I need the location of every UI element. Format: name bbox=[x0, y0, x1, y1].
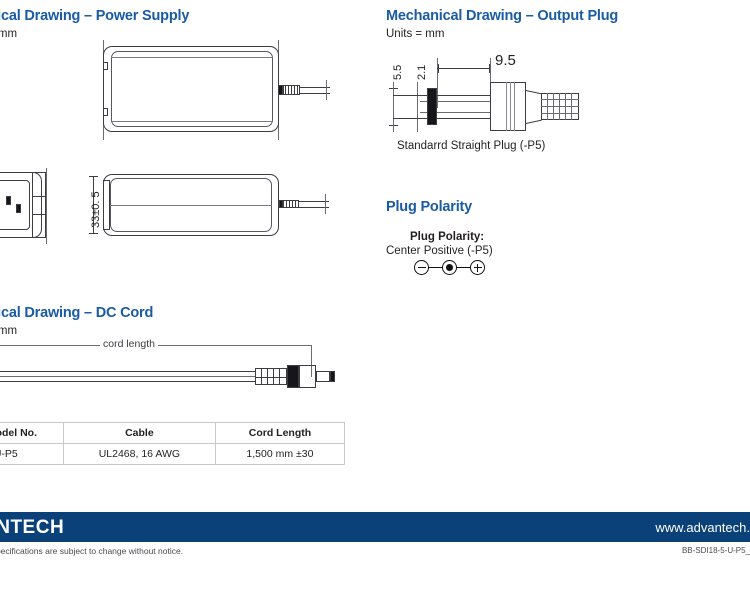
units-dc-cord: = mm bbox=[0, 325, 17, 337]
plug-polarity-value: Center Positive (-P5) bbox=[386, 245, 493, 257]
table-header-row: Model No. Cable Cord Length bbox=[0, 423, 345, 444]
footer-website-link[interactable]: www.advantech. bbox=[655, 520, 750, 535]
footer-document-id: BB-SDI18-5-U-P5_ bbox=[682, 546, 750, 555]
plug-polarity-label: Plug Polarity: bbox=[410, 231, 484, 243]
polarity-symbol bbox=[414, 260, 486, 278]
heading-dc-cord: hanical Drawing – DC Cord bbox=[0, 305, 153, 321]
dim-cord-length-label: cord length bbox=[100, 338, 158, 350]
dim-power-supply-height: 33±0. 5 bbox=[90, 191, 102, 228]
dim-plug-outer: 5.5 bbox=[392, 65, 404, 80]
heading-plug-polarity: Plug Polarity bbox=[386, 199, 472, 215]
footer-bar bbox=[0, 512, 750, 542]
units-power-supply: = mm bbox=[0, 28, 17, 40]
table-row: i18-5-U-P5 UL2468, 16 AWG 1,500 mm ±30 bbox=[0, 444, 345, 465]
heading-output-plug: Mechanical Drawing – Output Plug bbox=[386, 8, 618, 24]
cell-cable: UL2468, 16 AWG bbox=[63, 444, 215, 465]
center-dot bbox=[446, 264, 453, 271]
cell-model-no: i18-5-U-P5 bbox=[0, 444, 63, 465]
units-output-plug: Units = mm bbox=[386, 28, 444, 40]
col-model-no: Model No. bbox=[0, 423, 63, 444]
caption-output-plug: Standarrd Straight Plug (-P5) bbox=[397, 140, 545, 152]
heading-power-supply: hanical Drawing – Power Supply bbox=[0, 8, 189, 24]
dim-plug-length: 9.5 bbox=[495, 52, 516, 69]
polarity-connector-right bbox=[457, 267, 471, 269]
cell-cord-length: 1,500 mm ±30 bbox=[215, 444, 344, 465]
minus-sign bbox=[418, 267, 426, 269]
dim-plug-inner: 2.1 bbox=[416, 65, 428, 80]
col-cord-length: Cord Length bbox=[215, 423, 344, 444]
col-cable: Cable bbox=[63, 423, 215, 444]
footer-disclaimer: uct specifications are subject to change… bbox=[0, 546, 183, 556]
datasheet-page: hanical Drawing – Power Supply = mm bbox=[0, 0, 750, 591]
advantech-logo: ANTECH bbox=[0, 517, 64, 539]
plus-sign-v bbox=[477, 264, 479, 272]
cord-spec-table: Model No. Cable Cord Length i18-5-U-P5 U… bbox=[0, 422, 345, 465]
polarity-connector-left bbox=[429, 267, 443, 269]
